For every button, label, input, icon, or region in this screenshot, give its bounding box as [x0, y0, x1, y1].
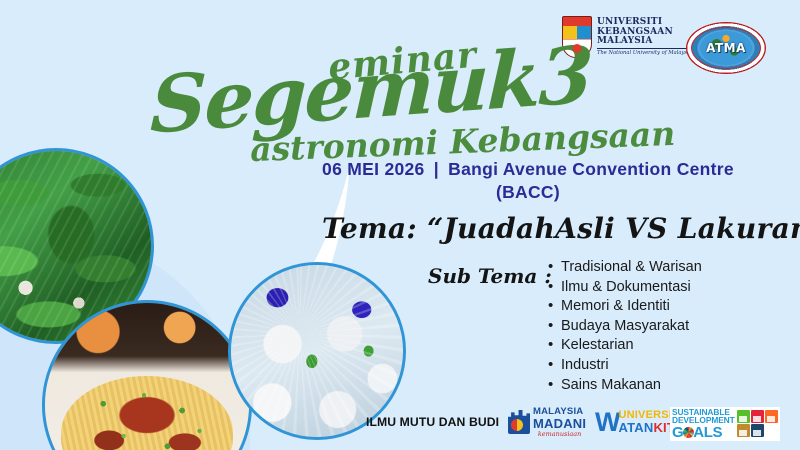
list-item: Industri — [548, 356, 702, 376]
list-item: Budaya Masyarakat — [548, 317, 702, 337]
sdg-goal-tiles — [737, 410, 778, 437]
madani-line-2: MADANI — [533, 417, 586, 430]
madani-line-3: kemanusiaan — [533, 431, 586, 438]
sdg-goals-als: ALS — [693, 424, 722, 441]
event-date-venue: 06 MEI 2026 | Bangi Avenue Convention Ce… — [318, 158, 738, 204]
sdg-wordmark: SUSTAINABLE DEVELOPMENT GALS — [672, 408, 735, 440]
madani-wordmark: MALAYSIA MADANI kemanusiaan — [533, 407, 586, 437]
ukm-line-3: MALAYSIA — [597, 37, 692, 47]
logo-atma: ATMA — [686, 22, 766, 74]
ukm-shield-emblem-icon — [573, 44, 582, 53]
watan-w-icon: W — [595, 409, 620, 435]
list-item: Memori & Identiti — [548, 297, 702, 317]
madani-skyline-icon — [508, 410, 530, 434]
logo-sustainable-development-goals: SUSTAINABLE DEVELOPMENT GALS — [670, 407, 780, 441]
list-item: Kelestarian — [548, 336, 702, 356]
sdg-tile — [737, 424, 750, 437]
sdg-line-3: GALS — [672, 425, 735, 440]
sdg-tile — [751, 424, 764, 437]
footer-tagline: ILMU MUTU DAN BUDI — [366, 415, 499, 429]
logo-malaysia-madani: MALAYSIA MADANI kemanusiaan — [508, 407, 586, 437]
event-venue-abbr: (BACC) — [496, 182, 560, 202]
poster-canvas: Segemuk3 eminar astronomi Kebangsaan UNI… — [0, 0, 800, 450]
sdg-goals-g: G — [672, 424, 683, 441]
subtheme-label: Sub Tema : — [428, 264, 552, 288]
sdg-tile — [765, 410, 778, 423]
footer-logo-strip: ILMU MUTU DAN BUDI MALAYSIA MADANI keman… — [0, 402, 800, 450]
subtheme-list: Tradisional & Warisan Ilmu & Dokumentasi… — [548, 258, 702, 395]
sdg-tile — [751, 410, 764, 423]
atma-wordmark: ATMA — [706, 41, 746, 55]
watan-atan-text: ATAN — [618, 420, 653, 435]
theme-line: Tema: “JuadahAsli VS Lakuran” — [322, 212, 790, 245]
sdg-tile — [765, 424, 778, 437]
event-venue: Bangi Avenue Convention Centre — [448, 159, 734, 179]
list-item: Ilmu & Dokumentasi — [548, 278, 702, 298]
ukm-tagline: The National University of Malaysia — [597, 48, 692, 56]
list-item: Sains Makanan — [548, 376, 702, 396]
list-item: Tradisional & Warisan — [548, 258, 702, 278]
sdg-tile — [737, 410, 750, 423]
ukm-wordmark: UNIVERSITI KEBANGSAAN MALAYSIA The Natio… — [597, 18, 692, 56]
